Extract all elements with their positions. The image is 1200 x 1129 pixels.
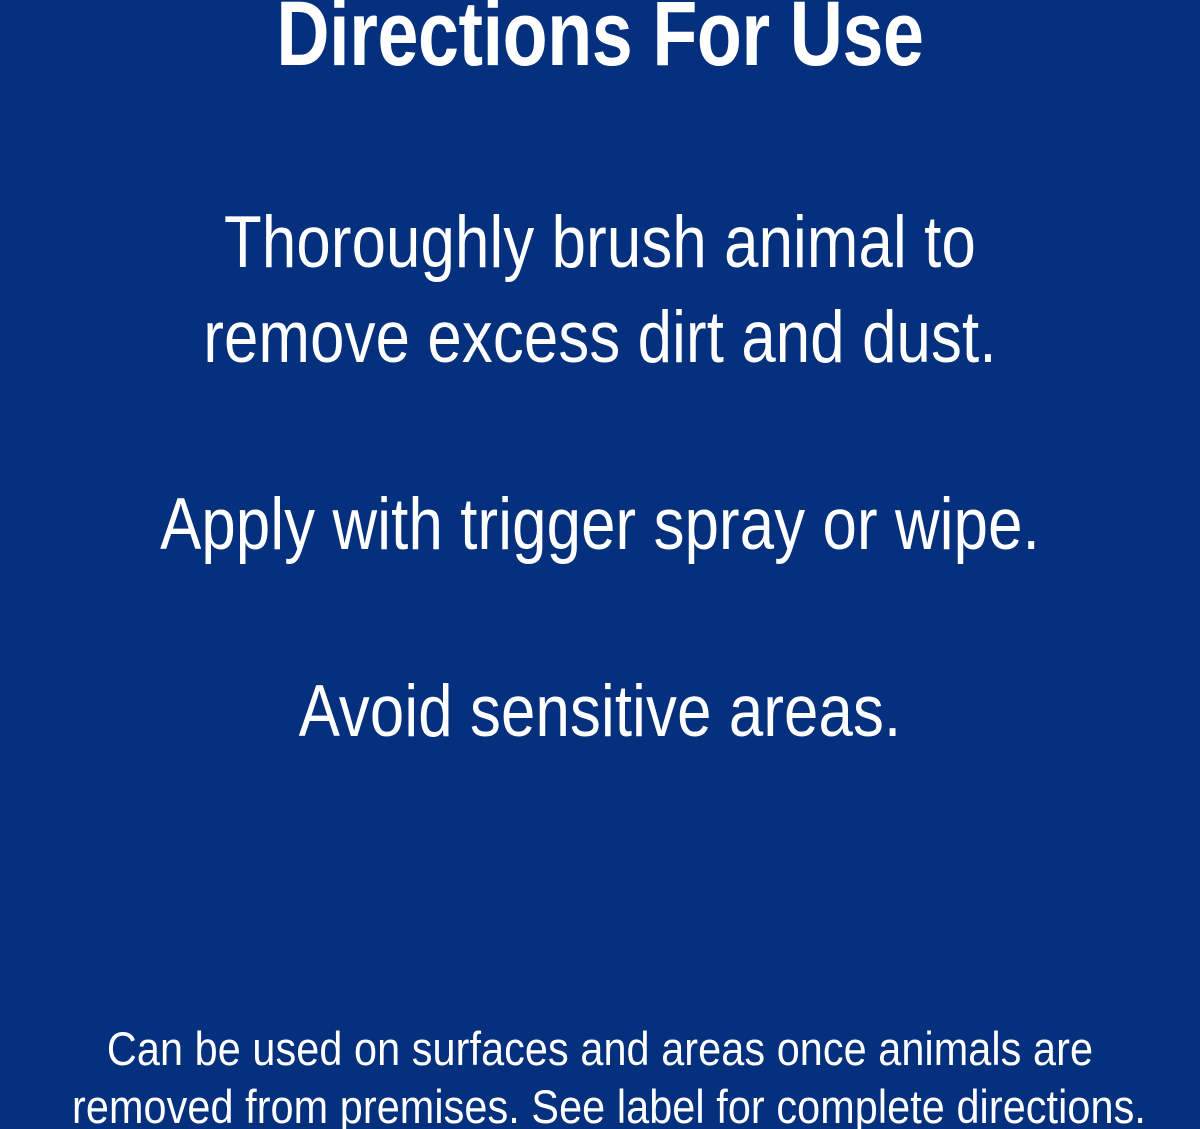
direction-step-2-line-1: Apply with trigger spray or wipe. [93, 478, 1107, 573]
direction-step-1-line-2: remove excess dirt and dust. [93, 291, 1107, 386]
direction-step-3-line-1: Avoid sensitive areas. [93, 665, 1107, 760]
direction-step-1-line-1: Thoroughly brush animal to [93, 196, 1107, 291]
footer-note-line-1: Can be used on surfaces and areas once a… [72, 1020, 1128, 1079]
footer-note-line-2: removed from premises. See label for com… [72, 1078, 1128, 1129]
page-title-text: Directions For Use [120, 0, 1080, 84]
directions-for-use-poster: Directions For Use Thoroughly brush anim… [0, 0, 1200, 1129]
direction-step-1: Thoroughly brush animal to remove excess… [0, 196, 1200, 386]
footer-note: Can be used on surfaces and areas once a… [0, 1020, 1200, 1129]
direction-step-2: Apply with trigger spray or wipe. [0, 478, 1200, 573]
page-title: Directions For Use [0, 0, 1200, 84]
direction-step-3: Avoid sensitive areas. [0, 665, 1200, 760]
directions-list: Thoroughly brush animal to remove excess… [0, 196, 1200, 760]
